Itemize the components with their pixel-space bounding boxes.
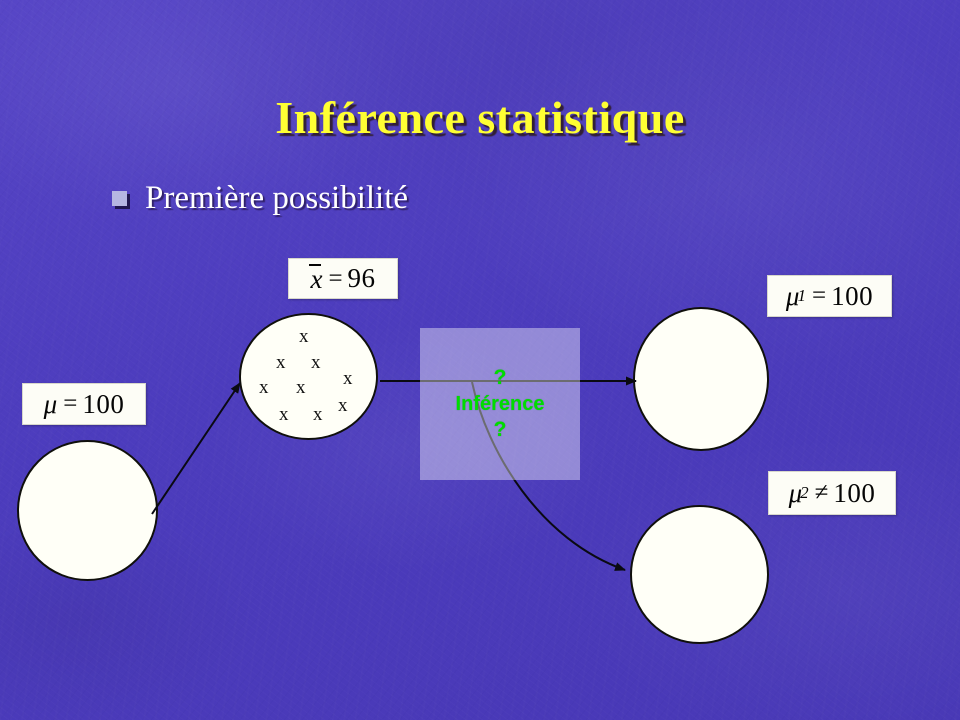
hypothesis-1-formula: μ 1 = 100 [767,275,892,317]
mean-value: 96 [348,263,376,294]
mu-subscript: 1 [797,286,806,306]
mean-value: 100 [831,281,873,312]
mean-value: 100 [82,389,124,420]
equals-sign: = [812,282,826,310]
inference-label: Inférence [456,391,545,417]
sample-x-mark: x [276,353,286,372]
inference-question-top: ? [494,365,507,391]
mean-value: 100 [833,478,875,509]
sample-x-mark: x [279,405,289,424]
bullet-item-label: Première possibilité [145,180,408,216]
population-mean-formula: μ = 100 [22,383,146,425]
equals-sign: = [328,265,342,293]
sample-mean-formula: x = 96 [288,258,398,299]
sampling-arrow [152,383,240,514]
mu-subscript: 2 [800,483,809,503]
population-circle [17,440,158,581]
slide-canvas: Inférence statistique Première possibili… [0,0,960,720]
sample-x-mark: x [299,327,309,346]
sample-x-mark: x [343,369,353,388]
bullet-list-item: Première possibilité [112,180,408,216]
hypothesis-1-circle [633,307,769,451]
inference-question-bottom: ? [494,417,507,443]
inference-panel: ? Inférence ? [420,328,580,480]
square-bullet-icon [112,191,127,206]
hypothesis-2-circle [630,505,769,644]
sample-x-mark: x [313,405,323,424]
page-title: Inférence statistique [0,92,960,144]
equals-sign: = [63,390,77,418]
sample-x-mark: x [296,378,306,397]
sample-circle: x x x x x x x x x [239,313,378,440]
not-equals-sign: ≠ [815,479,829,507]
sample-x-mark: x [338,396,348,415]
sample-x-mark: x [311,353,321,372]
sample-x-mark: x [259,378,269,397]
x-bar-symbol: x [310,262,322,295]
mu-symbol: μ [44,389,58,420]
hypothesis-2-formula: μ 2 ≠ 100 [768,471,896,515]
